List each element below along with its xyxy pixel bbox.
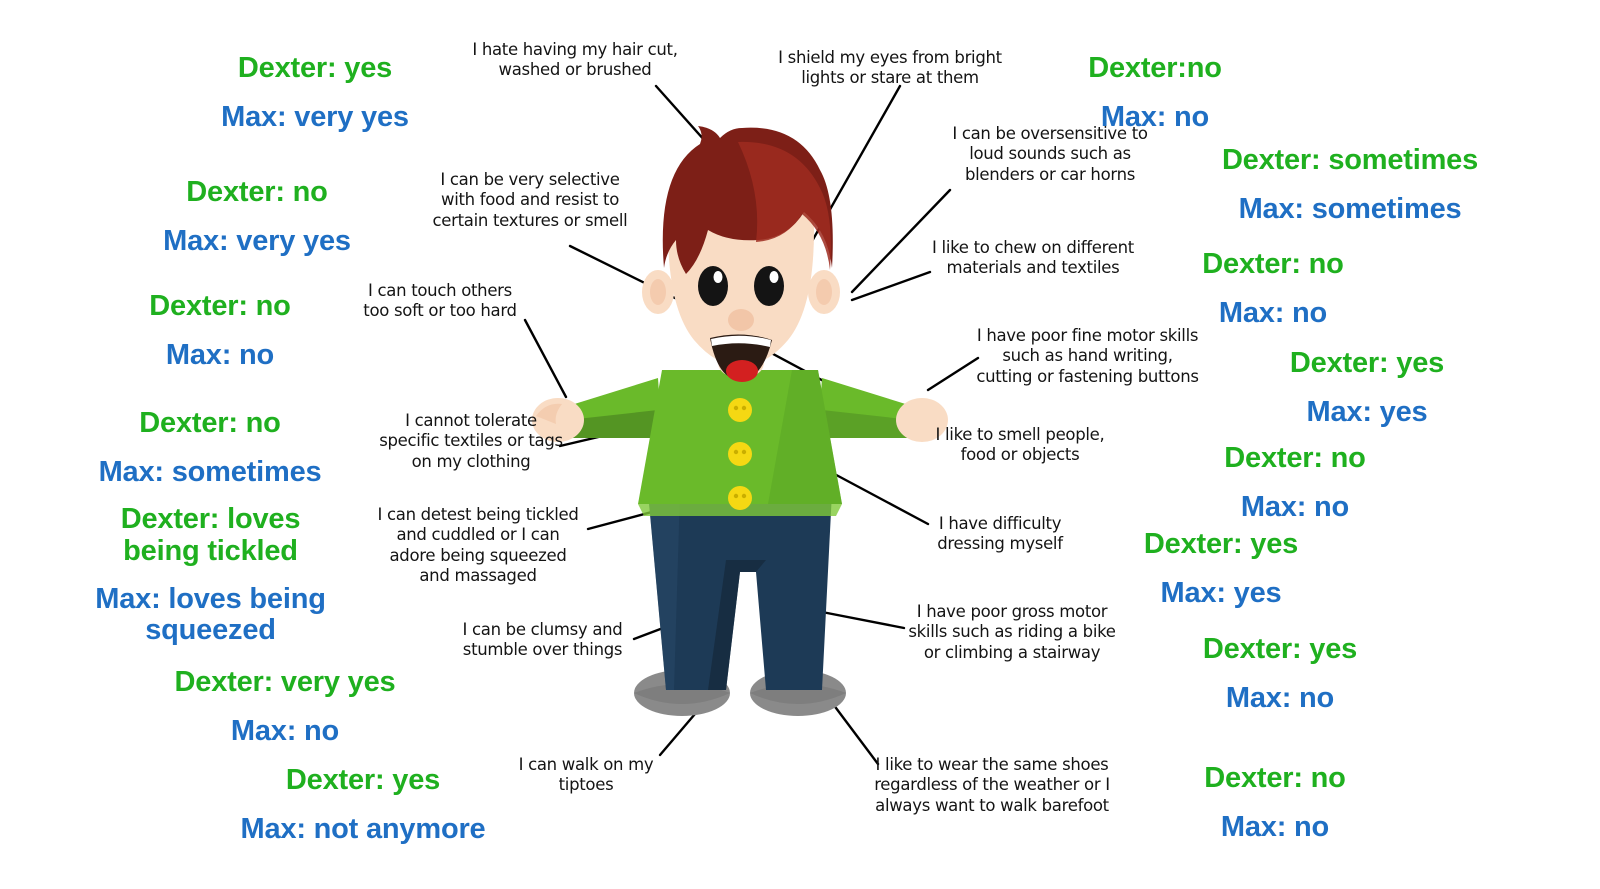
caption-chew-materials: I like to chew on different materials an… xyxy=(928,238,1138,279)
dexter-value: Dexter: yes xyxy=(170,53,460,84)
dexter-value: Dexter: yes xyxy=(1106,529,1336,560)
max-value: Max: very yes xyxy=(170,102,460,133)
max-value: Max: sometimes xyxy=(60,457,360,488)
caption-smell-people: I like to smell people, food or objects xyxy=(930,425,1110,466)
dexter-value: Dexter: very yes xyxy=(140,667,430,698)
max-value: Max: no xyxy=(1158,298,1388,329)
max-value: Max: no xyxy=(1165,683,1395,714)
caption-selective-food: I can be very selective with food and re… xyxy=(425,170,635,231)
tongue xyxy=(726,360,758,382)
answer-tiptoes: Dexter: yes Max: not anymore xyxy=(203,748,523,862)
caption-clumsy: I can be clumsy and stumble over things xyxy=(455,620,630,661)
nose xyxy=(728,309,754,331)
answer-touch-others: Dexter: no Max: no xyxy=(75,274,365,388)
caption-gross-motor: I have poor gross motor skills such as r… xyxy=(906,602,1118,663)
max-value: Max: not anymore xyxy=(203,814,523,845)
dexter-value: Dexter: no xyxy=(1158,249,1388,280)
answer-selective-food: Dexter: no Max: very yes xyxy=(112,160,402,274)
caption-textiles-tags: I cannot tolerate specific textiles or t… xyxy=(378,411,564,472)
dexter-value: Dexter: loves being tickled xyxy=(58,504,363,567)
dexter-value: Dexter:no xyxy=(1040,53,1270,84)
max-value: Max: loves being squeezed xyxy=(58,584,363,647)
caption-hair-cut: I hate having my hair cut, washed or bru… xyxy=(455,40,695,81)
caption-bright-lights: I shield my eyes from bright lights or s… xyxy=(775,48,1005,89)
dexter-value: Dexter: yes xyxy=(1165,634,1395,665)
max-value: Max: no xyxy=(1160,812,1390,843)
caption-tickled: I can detest being tickled and cuddled o… xyxy=(372,505,584,586)
max-value: Max: no xyxy=(75,340,365,371)
dexter-value: Dexter: no xyxy=(1160,763,1390,794)
max-value: Max: sometimes xyxy=(1190,194,1510,225)
answer-same-shoes: Dexter: no Max: no xyxy=(1160,746,1390,860)
answer-loud-sounds: Dexter: sometimes Max: sometimes xyxy=(1190,128,1510,242)
eye-right xyxy=(754,266,784,306)
answer-gross-motor: Dexter: yes Max: no xyxy=(1165,617,1395,731)
max-value: Max: very yes xyxy=(112,226,402,257)
sensory-checklist-diagram: I hate having my hair cut, washed or bru… xyxy=(0,0,1600,889)
answer-tickled: Dexter: loves being tickled Max: loves b… xyxy=(58,487,363,664)
eye-left xyxy=(698,266,728,306)
dexter-value: Dexter: no xyxy=(60,408,360,439)
dexter-value: Dexter: yes xyxy=(203,765,523,796)
answer-hair-cut: Dexter: yes Max: very yes xyxy=(170,36,460,150)
shirt-buttons xyxy=(728,398,752,510)
caption-tiptoes: I can walk on my tiptoes xyxy=(512,755,660,796)
max-value: Max: no xyxy=(140,716,430,747)
max-value: Max: yes xyxy=(1106,578,1336,609)
caption-dressing: I have difficulty dressing myself xyxy=(930,514,1070,555)
caption-same-shoes: I like to wear the same shoes regardless… xyxy=(872,755,1112,816)
answer-dressing: Dexter: yes Max: yes xyxy=(1106,512,1336,626)
max-value: Max: yes xyxy=(1252,397,1482,428)
dexter-value: Dexter: yes xyxy=(1252,348,1482,379)
dexter-value: Dexter: no xyxy=(112,177,402,208)
dexter-value: Dexter: no xyxy=(75,291,365,322)
dexter-value: Dexter: sometimes xyxy=(1190,145,1510,176)
caption-touch-others: I can touch others too soft or too hard xyxy=(355,281,525,322)
dexter-value: Dexter: no xyxy=(1180,443,1410,474)
answer-chew-materials: Dexter: no Max: no xyxy=(1158,232,1388,346)
